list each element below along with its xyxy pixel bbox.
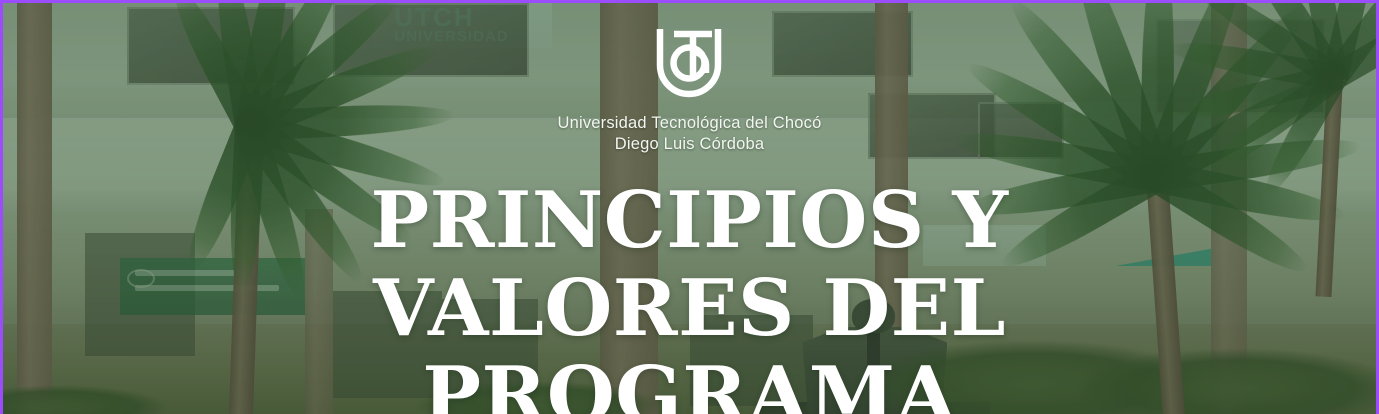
university-name: Universidad Tecnológica del Chocó Diego … (557, 113, 821, 155)
university-name-line2: Diego Luis Córdoba (557, 134, 821, 155)
program-hero-banner: UTCH UNIVERSIDAD (0, 0, 1379, 414)
university-name-line1: Universidad Tecnológica del Chocó (557, 114, 821, 132)
hero-content: Universidad Tecnológica del Chocó Diego … (3, 3, 1376, 414)
university-logo-block: Universidad Tecnológica del Chocó Diego … (557, 25, 821, 155)
page-title: PRINCIPIOS Y VALORES DEL PROGRAMA (160, 177, 1220, 414)
utch-shield-logo-icon (650, 25, 728, 106)
